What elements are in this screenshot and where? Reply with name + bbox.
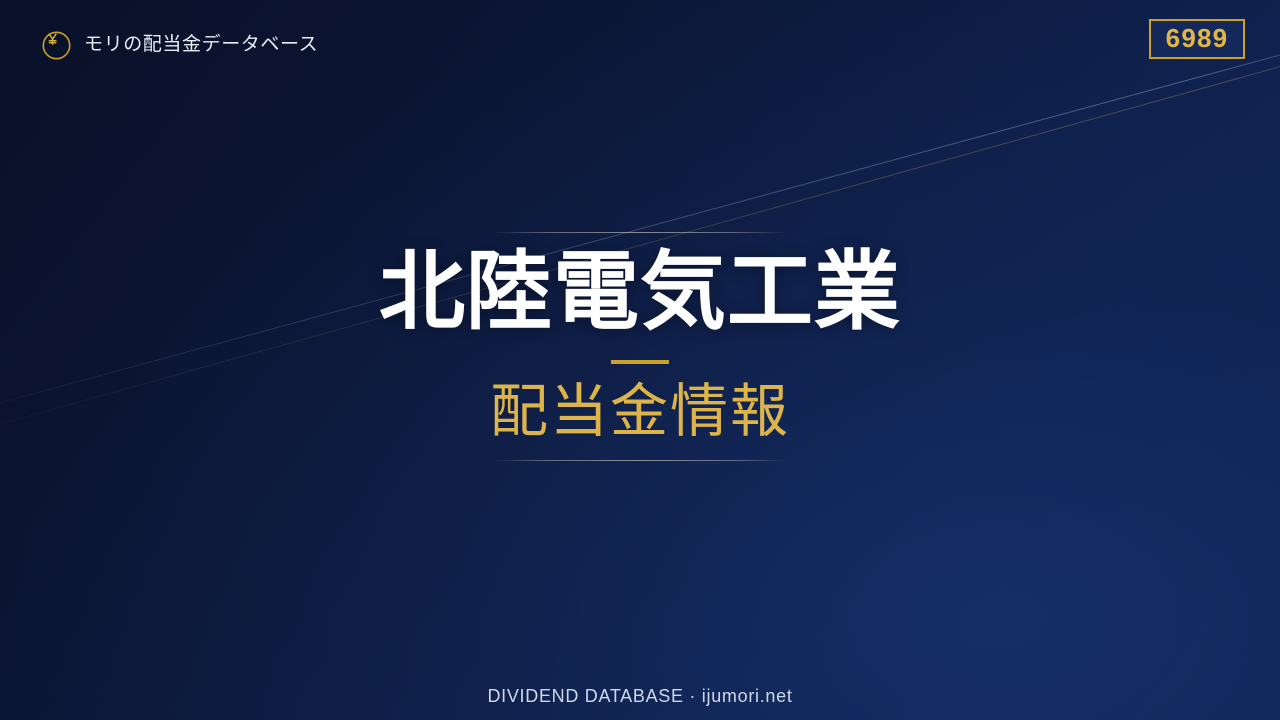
gold-dash-divider xyxy=(611,360,669,364)
yen-circle-icon xyxy=(38,28,71,61)
title-slide: モリの配当金データベース 6989 北陸電気工業 配当金情報 DIVIDEND … xyxy=(0,0,1280,720)
footer-caption: DIVIDEND DATABASE · ijumori.net xyxy=(0,686,1280,707)
brand-logo[interactable]: モリの配当金データベース xyxy=(38,28,318,61)
brand-name-label: モリの配当金データベース xyxy=(84,35,318,54)
divider-below-subtitle xyxy=(492,460,788,461)
header-bar: モリの配当金データベース 6989 xyxy=(0,0,1280,72)
title-block: 北陸電気工業 配当金情報 xyxy=(0,232,1280,461)
page-title: 北陸電気工業 xyxy=(0,247,1280,338)
divider-above-title xyxy=(492,232,788,233)
page-subtitle: 配当金情報 xyxy=(0,380,1280,444)
ticker-code-badge[interactable]: 6989 xyxy=(1149,19,1245,59)
